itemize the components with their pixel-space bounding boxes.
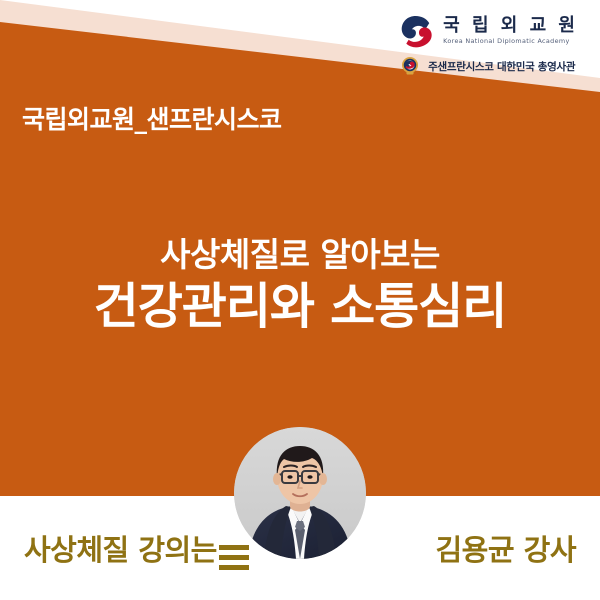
instructor-portrait bbox=[234, 427, 366, 559]
title-block: 사상체질로 알아보는 건강관리와 소통심리 bbox=[0, 236, 600, 336]
deco-bar bbox=[219, 565, 249, 570]
poster-canvas: 국 립 외 교 원 Korea National Diplomatic Acad… bbox=[0, 0, 600, 600]
academy-name-kr: 국 립 외 교 원 bbox=[443, 17, 578, 35]
academy-name-en: Korea National Diplomatic Academy bbox=[443, 38, 578, 44]
title-subtitle: 사상체질로 알아보는 bbox=[0, 236, 600, 274]
header-label: 국립외교원_샌프란시스코 bbox=[22, 100, 282, 136]
deco-bar bbox=[219, 555, 249, 560]
gold-trigram-decoration bbox=[219, 545, 249, 570]
deco-bar bbox=[219, 545, 249, 550]
footer-right-caption: 김용균 강사 bbox=[436, 527, 577, 569]
consulate-label: 주샌프란시스코 대한민국 총영사관 bbox=[428, 59, 575, 74]
academy-logo: 국 립 외 교 원 Korea National Diplomatic Acad… bbox=[396, 12, 578, 50]
korean-government-seal-icon bbox=[400, 56, 420, 76]
logo-group: 국 립 외 교 원 Korea National Diplomatic Acad… bbox=[396, 12, 578, 76]
consulate-logo: 주샌프란시스코 대한민국 총영사관 bbox=[396, 56, 575, 76]
title-main: 건강관리와 소통심리 bbox=[0, 278, 600, 336]
taegeuk-icon bbox=[396, 12, 434, 50]
academy-logo-text: 국 립 외 교 원 Korea National Diplomatic Acad… bbox=[443, 17, 578, 44]
footer-left-caption: 사상체질 강의는 bbox=[24, 527, 217, 569]
